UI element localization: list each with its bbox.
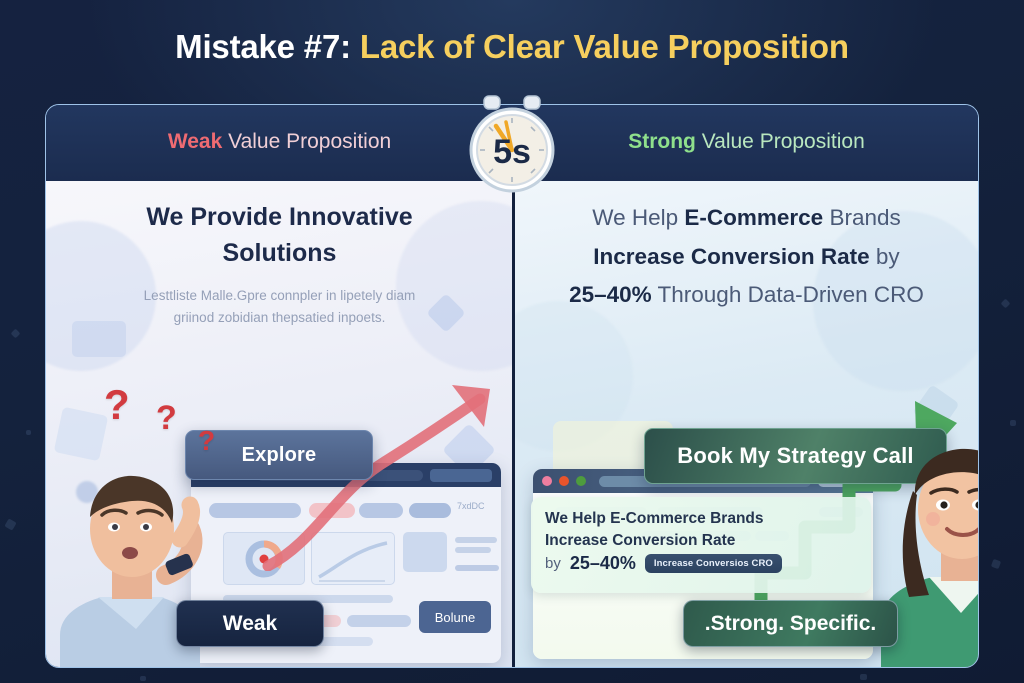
bg-fleck: [991, 559, 1001, 569]
strong-headline-line-3: 25–40% Through Data-Driven CRO: [513, 276, 979, 315]
card-line-1: We Help E-Commerce Brands: [545, 508, 857, 530]
strong-header-rest: Value Proposition: [696, 130, 865, 153]
bg-fleck: [1001, 299, 1011, 309]
traffic-light-green[interactable]: [576, 476, 586, 486]
weak-headline-line-1: We Provide Innovative: [46, 199, 513, 235]
bg-fleck: [26, 430, 31, 435]
strong-headline-line-2: Increase Conversion Rate by: [513, 238, 979, 277]
card-by-label: by: [545, 555, 561, 572]
weak-headline: We Provide Innovative Solutions: [46, 199, 513, 272]
bg-fleck: [860, 674, 867, 680]
weak-column: We Provide Innovative Solutions Lesttlis…: [46, 181, 513, 668]
column-divider: [512, 181, 515, 668]
weak-header-keyword: Weak: [168, 130, 222, 153]
bolune-button[interactable]: Bolune: [419, 601, 491, 633]
bg-fleck: [1010, 420, 1016, 426]
page-title-highlight: Lack of Clear Value Proposition: [360, 28, 849, 65]
page-title-prefix: Mistake #7:: [175, 28, 351, 65]
bg-fleck: [11, 329, 21, 339]
weak-column-header: Weak Value Proposition: [46, 130, 513, 154]
strong-hl3-b: Through Data-Driven CRO: [652, 282, 924, 307]
strong-headline-line-1: We Help E-Commerce Brands: [513, 199, 979, 238]
value-prop-card: We Help E-Commerce Brands Increase Conve…: [531, 497, 871, 593]
strong-column-header: Strong Value Proposition: [513, 130, 979, 154]
bolune-button-label: Bolune: [435, 610, 475, 625]
explore-button-label: Explore: [242, 444, 317, 467]
text-line: [347, 615, 411, 627]
weak-header-rest: Value Proposition: [222, 130, 391, 153]
traffic-light-pink[interactable]: [542, 476, 552, 486]
strong-badge: .Strong. Specific.: [683, 600, 898, 647]
strong-hl1-c: Brands: [823, 205, 901, 230]
weak-badge-label: Weak: [223, 612, 277, 636]
strong-hl1-b: E-Commerce: [684, 205, 823, 230]
weak-headline-line-2: Solutions: [46, 235, 513, 271]
card-cro-pill: Increase Conversios CRO: [645, 554, 782, 573]
bg-fleck: [4, 518, 16, 530]
page-title: Mistake #7: Lack of Clear Value Proposit…: [0, 28, 1024, 66]
weak-badge: Weak: [176, 600, 324, 647]
strong-hl1-a: We Help: [592, 205, 684, 230]
weak-subtext-line-1: Lesttliste Malle.Gpre connpler in lipete…: [46, 285, 513, 307]
question-mark-icon: ?: [198, 425, 215, 457]
timer-value: 5s: [493, 133, 531, 171]
strong-column: We Help E-Commerce Brands Increase Conve…: [513, 181, 979, 668]
card-line-2: Increase Conversion Rate: [545, 530, 857, 552]
card-line-3: by 25–40% Increase Conversios CRO: [545, 553, 857, 574]
stopwatch-icon: 5s: [462, 92, 562, 196]
strong-headline: We Help E-Commerce Brands Increase Conve…: [513, 199, 979, 315]
bg-fleck: [140, 676, 146, 681]
infographic-root: { "title": { "prefix": "Mistake #7:", "h…: [0, 0, 1024, 683]
question-mark-icon: ?: [104, 381, 130, 429]
card-percent: 25–40%: [570, 553, 636, 574]
timer-badge: 5s: [462, 92, 562, 196]
traffic-light-red[interactable]: [559, 476, 569, 486]
strong-header-keyword: Strong: [628, 130, 696, 153]
question-mark-icon: ?: [156, 399, 177, 438]
strong-badge-label: .Strong. Specific.: [705, 612, 877, 636]
strong-hl2-a: Increase Conversion Rate: [593, 244, 869, 269]
weak-subtext-line-2: griinod zobidian thepsatied inpoets.: [46, 307, 513, 329]
strong-hl2-b: by: [870, 244, 900, 269]
weak-subtext: Lesttliste Malle.Gpre connpler in lipete…: [46, 285, 513, 330]
strong-hl3-a: 25–40%: [569, 282, 652, 307]
